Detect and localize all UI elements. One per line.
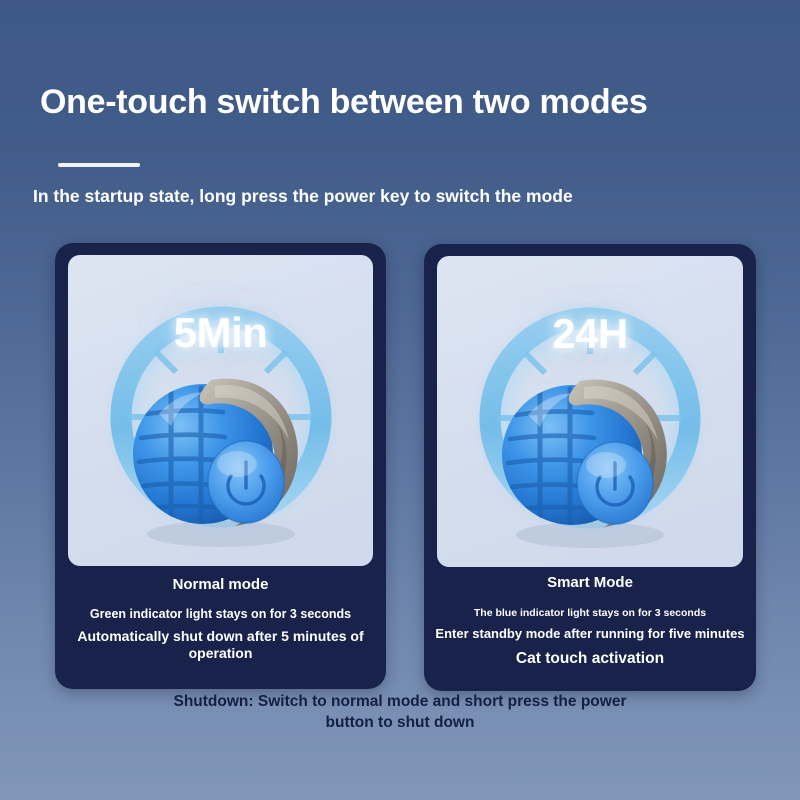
card-title-smart: Smart Mode <box>434 574 746 591</box>
page-subtitle: In the startup state, long press the pow… <box>33 186 573 207</box>
card-caption-normal: Normal mode Green indicator light stays … <box>65 576 376 662</box>
card-line-normal-2: Automatically shut down after 5 minutes … <box>65 628 376 662</box>
title-accent-rule <box>58 163 140 167</box>
product-media-smart: 24H <box>437 256 743 567</box>
card-title-normal: Normal mode <box>65 576 376 593</box>
product-ball-smart <box>484 343 696 555</box>
mode-card-smart: 24H <box>424 244 756 691</box>
card-line-smart-1: The blue indicator light stays on for 3 … <box>434 607 746 619</box>
product-media-normal: 5Min <box>68 255 373 566</box>
product-ball-normal <box>115 342 327 554</box>
card-line-smart-2: Enter standby mode after running for fiv… <box>434 626 746 642</box>
page-title: One-touch switch between two modes <box>40 83 648 122</box>
card-caption-smart: Smart Mode The blue indicator light stay… <box>434 574 746 669</box>
card-line-normal-1: Green indicator light stays on for 3 sec… <box>65 607 376 622</box>
card-line-smart-3: Cat touch activation <box>434 650 746 669</box>
shutdown-instruction: Shutdown: Switch to normal mode and shor… <box>0 692 800 733</box>
mode-card-normal: 5Min <box>55 243 386 689</box>
